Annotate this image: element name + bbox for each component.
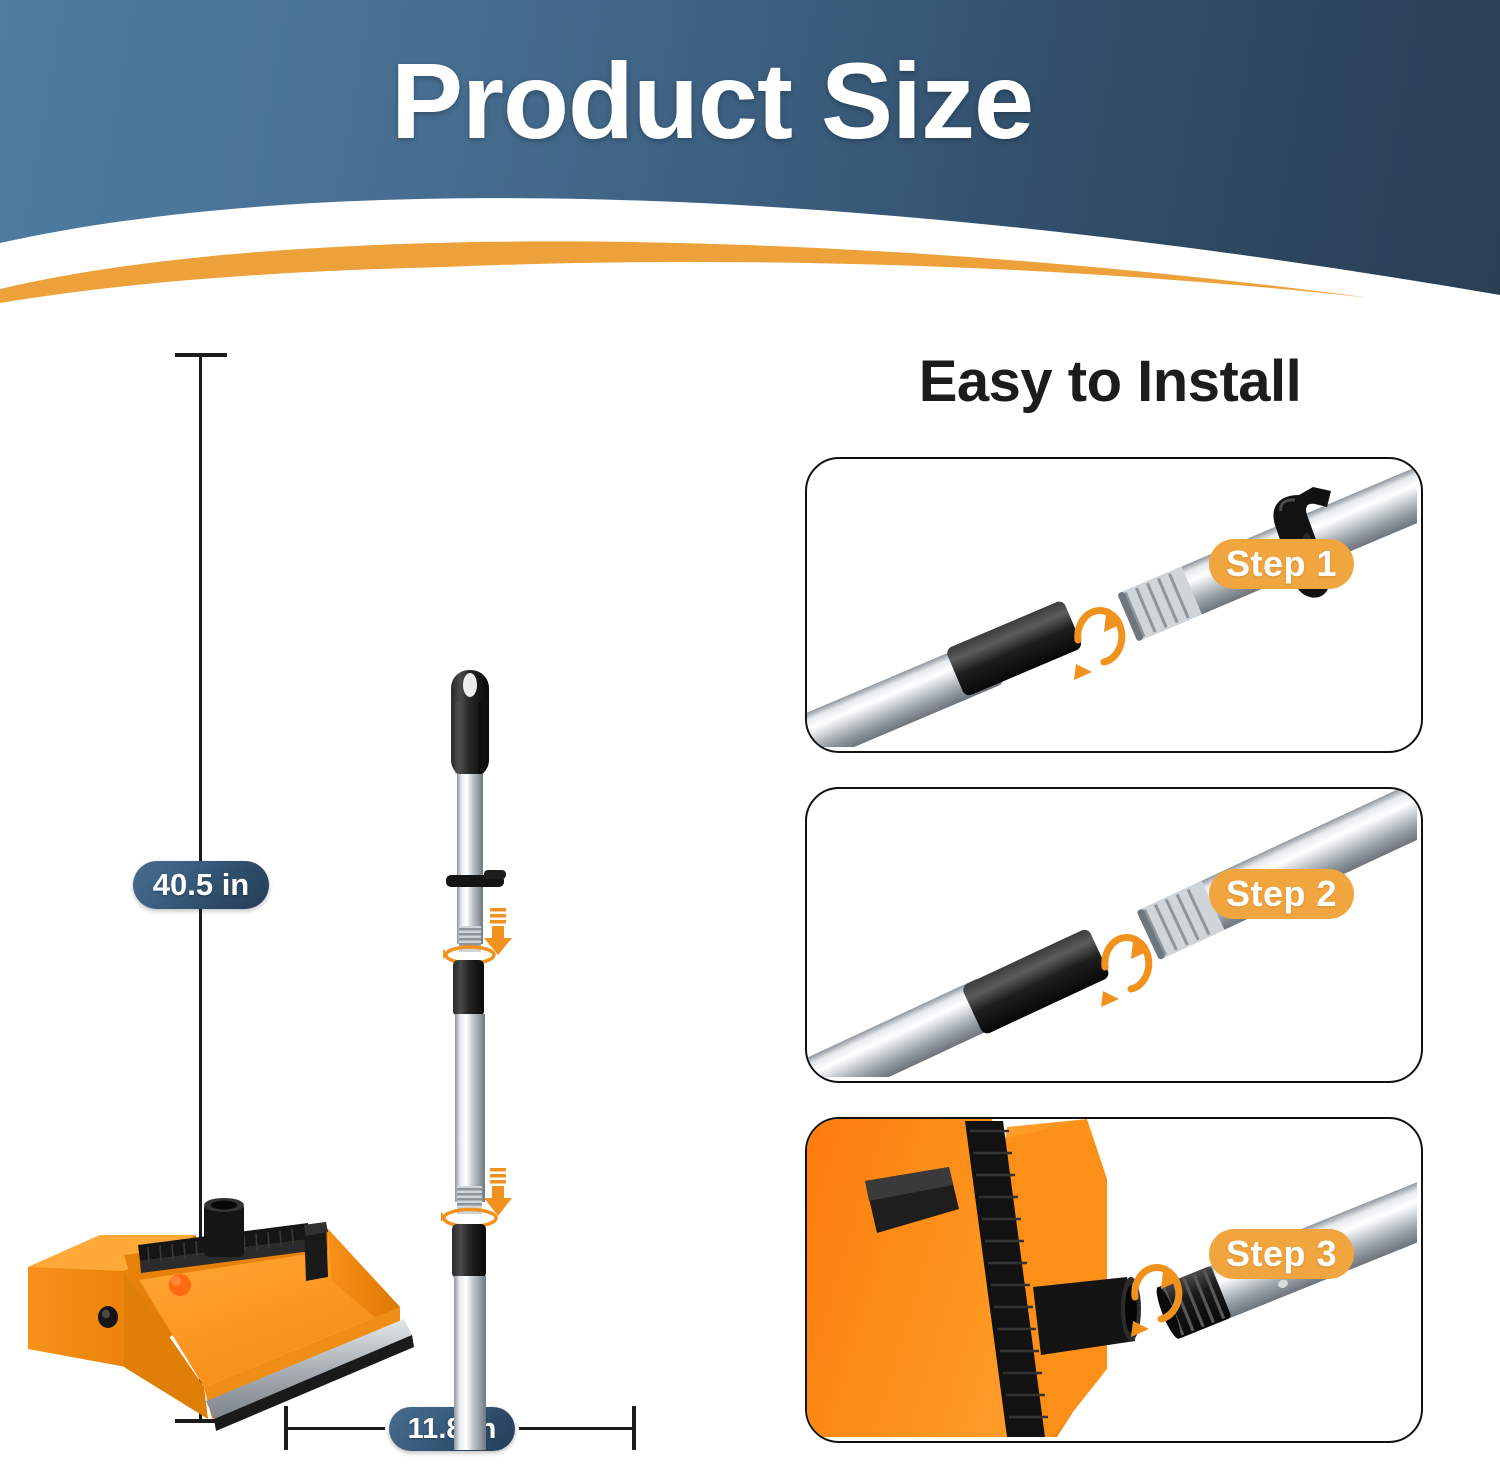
pole-section-lower [454, 1276, 486, 1450]
pole-section-upper [457, 774, 483, 944]
height-dimension-badge: 40.5 in [133, 861, 269, 909]
height-dimension-cap-top [175, 353, 227, 357]
step-2-illustration [807, 789, 1417, 1077]
step-1-illustration [807, 459, 1417, 747]
install-panel: Easy to Install [760, 320, 1500, 1469]
header-banner: Product Size [0, 0, 1500, 320]
pole-section-middle [455, 1014, 485, 1202]
step-2-badge: Step 2 [1209, 869, 1354, 919]
connector-sleeve-middle [452, 1224, 486, 1278]
page-title: Product Size [0, 42, 1462, 161]
step-card-3[interactable] [805, 1117, 1423, 1443]
rotate-arrow-icon [1074, 610, 1122, 680]
connector-sleeve-upper [453, 960, 484, 1016]
step-card-1[interactable] [805, 457, 1423, 753]
broom-clip [304, 1222, 328, 1281]
install-section-title: Easy to Install [760, 348, 1460, 415]
step-3-badge: Step 3 [1209, 1229, 1354, 1279]
dustpan-illustration [8, 1189, 438, 1449]
size-panel: 40.5 in 11.8 in [0, 320, 760, 1469]
handle-grip-icon [451, 670, 489, 778]
step-1-badge: Step 1 [1209, 539, 1354, 589]
step-card-2[interactable] [805, 787, 1423, 1083]
down-arrow-middle-icon [484, 1168, 512, 1216]
pole-socket [204, 1198, 244, 1257]
pole-socket [1033, 1277, 1141, 1355]
